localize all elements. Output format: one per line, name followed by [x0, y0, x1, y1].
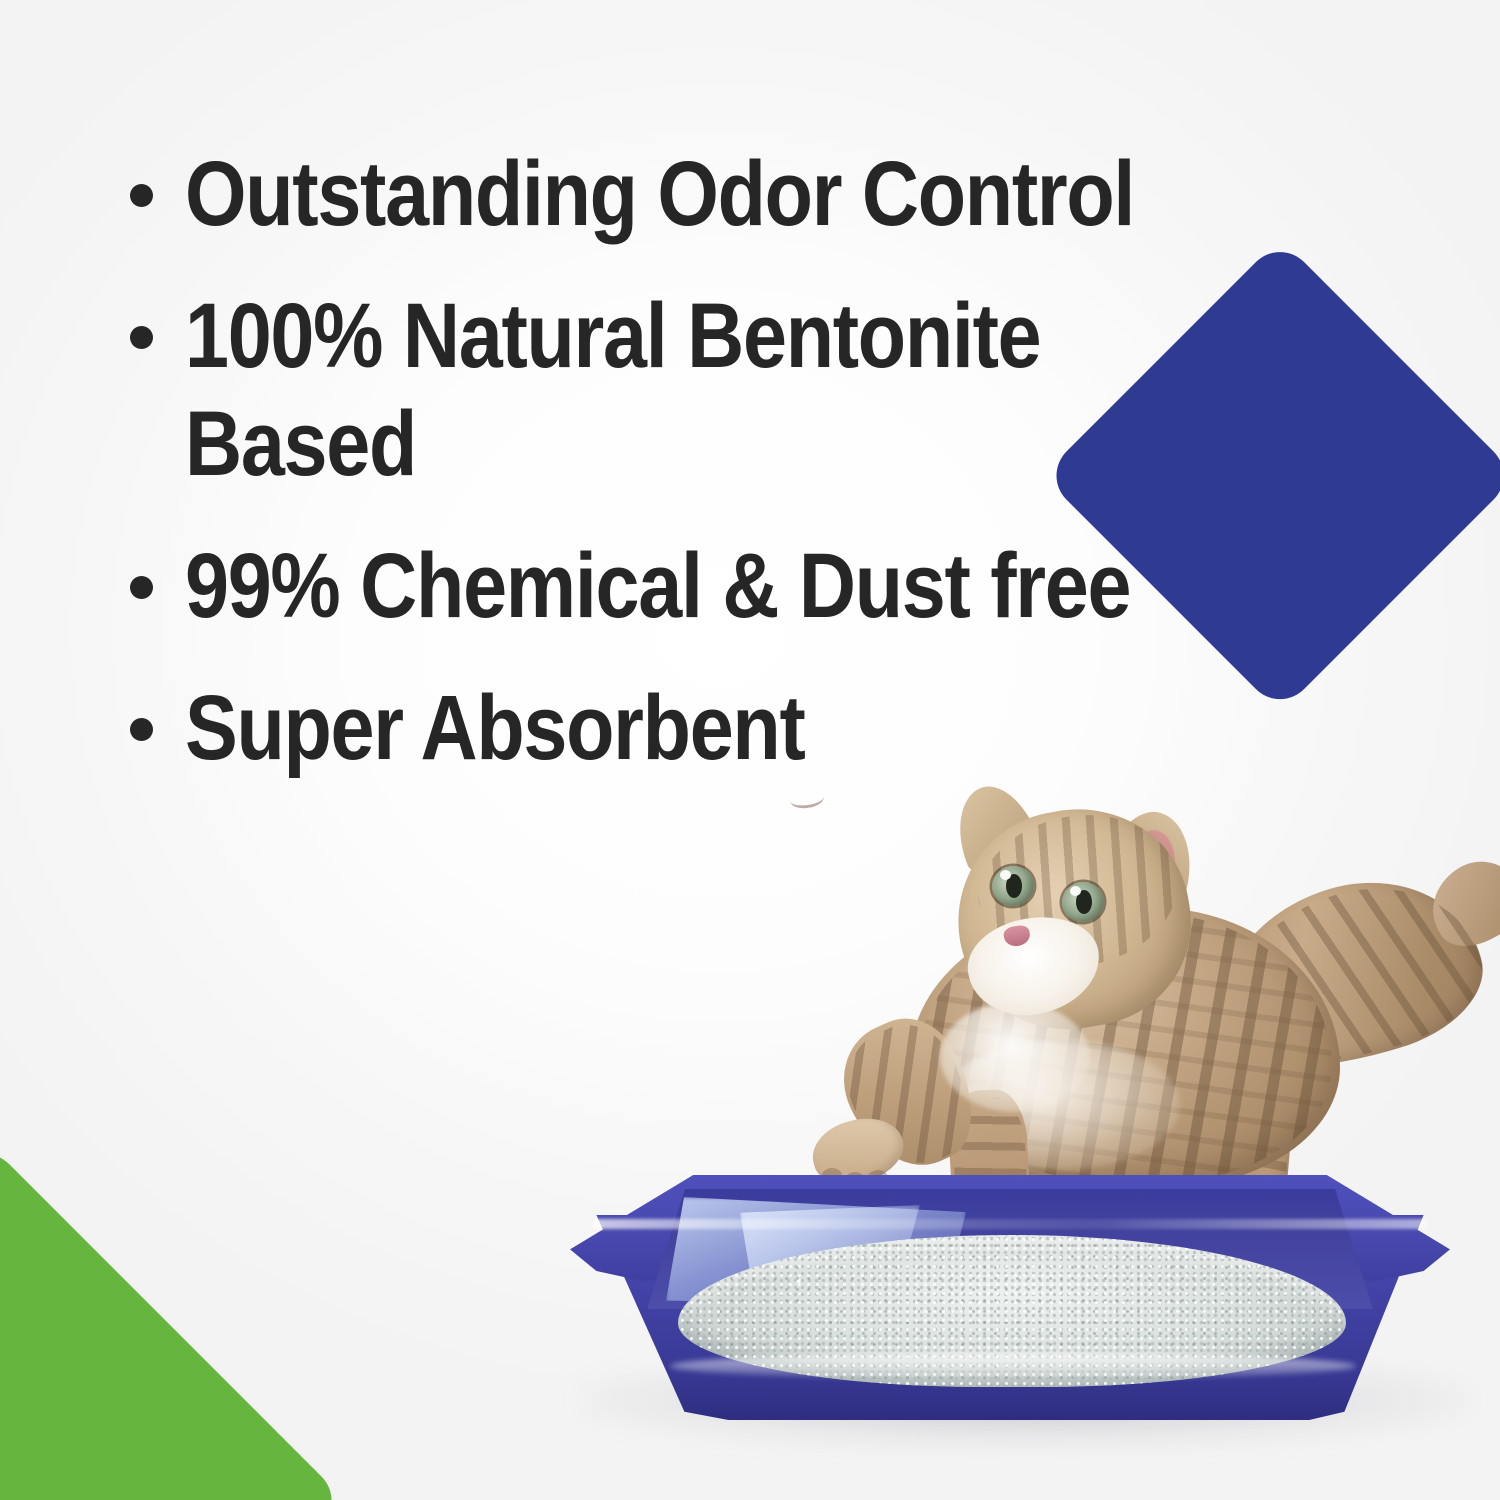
feature-label: Outstanding Odor Control [185, 140, 1134, 248]
bullet-dot-icon [130, 576, 153, 599]
feature-item-bentonite: 100% Natural Bentonite Based [130, 282, 1310, 498]
feature-label: 100% Natural Bentonite Based [185, 282, 1040, 498]
bullet-dot-icon [130, 184, 153, 207]
feature-label: 99% Chemical & Dust free [185, 532, 1130, 640]
feature-item-odor-control: Outstanding Odor Control [130, 140, 1310, 248]
cat-eye-glint-right [1070, 886, 1081, 896]
banner-canvas: Outstanding Odor Control 100% Natural Be… [0, 0, 1500, 1500]
feature-label: Super Absorbent [185, 674, 805, 782]
bullet-dot-icon [130, 326, 153, 349]
bullet-dot-icon [130, 718, 153, 741]
feature-item-super-absorbent: Super Absorbent [130, 674, 1310, 782]
kitten-in-litter-box-photo [560, 790, 1500, 1500]
litter-box-rim-highlight [592, 1219, 1428, 1229]
feature-item-chemical-dust-free: 99% Chemical & Dust free [130, 532, 1310, 640]
litter-box [570, 1175, 1450, 1425]
cat-chest-white [940, 1002, 1090, 1112]
green-diamond-decoration [0, 1140, 346, 1500]
litter-front-edge [670, 1353, 1356, 1379]
feature-list: Outstanding Odor Control 100% Natural Be… [130, 140, 1310, 816]
cat-eye-glint-left [1000, 870, 1011, 880]
